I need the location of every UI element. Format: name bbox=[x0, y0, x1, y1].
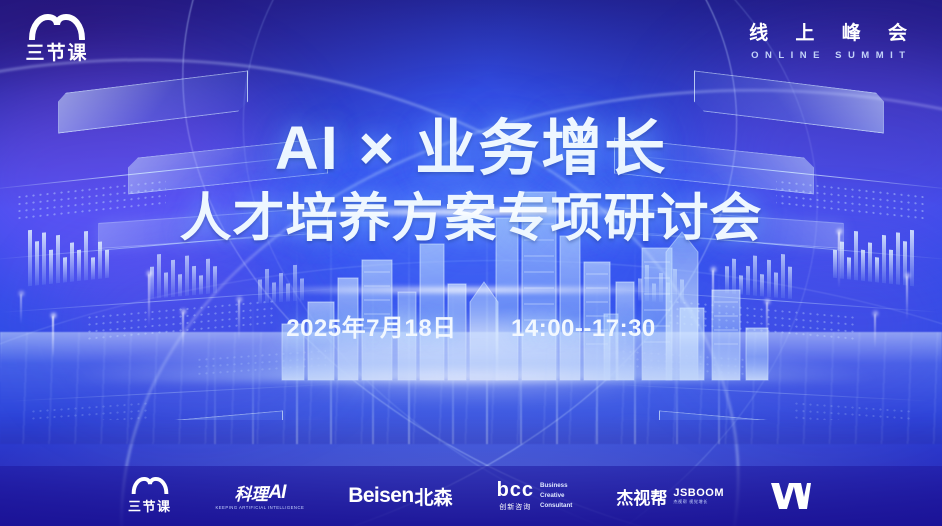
event-time: 14:00--17:30 bbox=[511, 315, 656, 342]
sponsor-logo-beisen[interactable]: Beisen 北森 bbox=[348, 483, 452, 510]
poster-canvas: 三节课 线 上 峰 会 ONLINE SUMMIT AI × 业务增长 人才培养… bbox=[0, 0, 942, 526]
title-line-2: 人才培养方案专项研讨会 bbox=[0, 193, 942, 245]
summit-title-cn: 线 上 峰 会 bbox=[738, 22, 918, 46]
sponsor-name-accent: AI bbox=[268, 482, 285, 504]
sponsor-name-cn: 科理 bbox=[234, 480, 267, 505]
sponsor-logo-keli-ai[interactable]: 科理 AI KEEPING ARTIFICIAL INTELLIGENCE bbox=[215, 480, 304, 511]
summit-title-en: ONLINE SUMMIT bbox=[738, 50, 918, 61]
event-date: 2025年7月18日 bbox=[286, 315, 456, 342]
bcc-tagline-line-1: Business bbox=[540, 481, 572, 491]
sponsor-name-cn: 杰视帮 bbox=[616, 484, 667, 509]
sponsor-bar: 三节课 科理 AI KEEPING ARTIFICIAL INTELLIGENC… bbox=[0, 466, 942, 526]
brand-logo[interactable]: 三节课 bbox=[14, 14, 100, 63]
keli-wordmark: 科理 AI bbox=[234, 480, 285, 505]
double-arch-cloud-mark-icon bbox=[29, 14, 85, 40]
event-schedule: 2025年7月18日 14:00--17:30 bbox=[0, 308, 942, 343]
sponsor-name-cn: 创新咨询 bbox=[499, 502, 531, 512]
sponsor-name-en: JSBOOM bbox=[673, 487, 724, 499]
brand-name: 三节课 bbox=[14, 44, 100, 63]
title-line-1: AI × 业务增长 bbox=[0, 118, 942, 179]
w-letter-mark-icon bbox=[771, 483, 811, 509]
bcc-tagline-line-3: Consultant bbox=[540, 501, 572, 511]
title-underglow bbox=[151, 286, 791, 294]
sponsor-name-en: bcc bbox=[497, 480, 534, 500]
sponsor-logo-jsboom[interactable]: 杰视帮 JSBOOM 杰视帮 视觉增长 bbox=[616, 484, 724, 509]
sponsor-subtitle: 杰视帮 视觉增长 bbox=[673, 499, 724, 505]
double-arch-cloud-mark-icon bbox=[131, 477, 169, 494]
bcc-wordmark: bcc 创新咨询 bbox=[497, 480, 534, 512]
sponsor-name: 三节课 bbox=[128, 496, 172, 515]
bcc-tagline: Business Creative Consultant bbox=[540, 481, 572, 512]
reflective-ground bbox=[0, 332, 942, 444]
sponsor-subtitle: KEEPING ARTIFICIAL INTELLIGENCE bbox=[215, 505, 304, 511]
bcc-tagline-line-2: Creative bbox=[540, 491, 572, 501]
main-title-block: AI × 业务增长 人才培养方案专项研讨会 bbox=[0, 118, 942, 245]
sponsor-name-en: Beisen bbox=[348, 484, 413, 508]
title-underglow bbox=[191, 208, 751, 216]
jsboom-wordmark: JSBOOM 杰视帮 视觉增长 bbox=[673, 487, 724, 505]
sponsor-name-cn: 北森 bbox=[415, 483, 453, 510]
summit-label: 线 上 峰 会 ONLINE SUMMIT bbox=[738, 22, 918, 61]
sponsor-logo-sanjieke[interactable]: 三节课 bbox=[128, 477, 172, 515]
sponsor-logo-w-mark[interactable] bbox=[768, 483, 814, 509]
sponsor-logo-bcc[interactable]: bcc 创新咨询 Business Creative Consultant bbox=[497, 480, 573, 512]
